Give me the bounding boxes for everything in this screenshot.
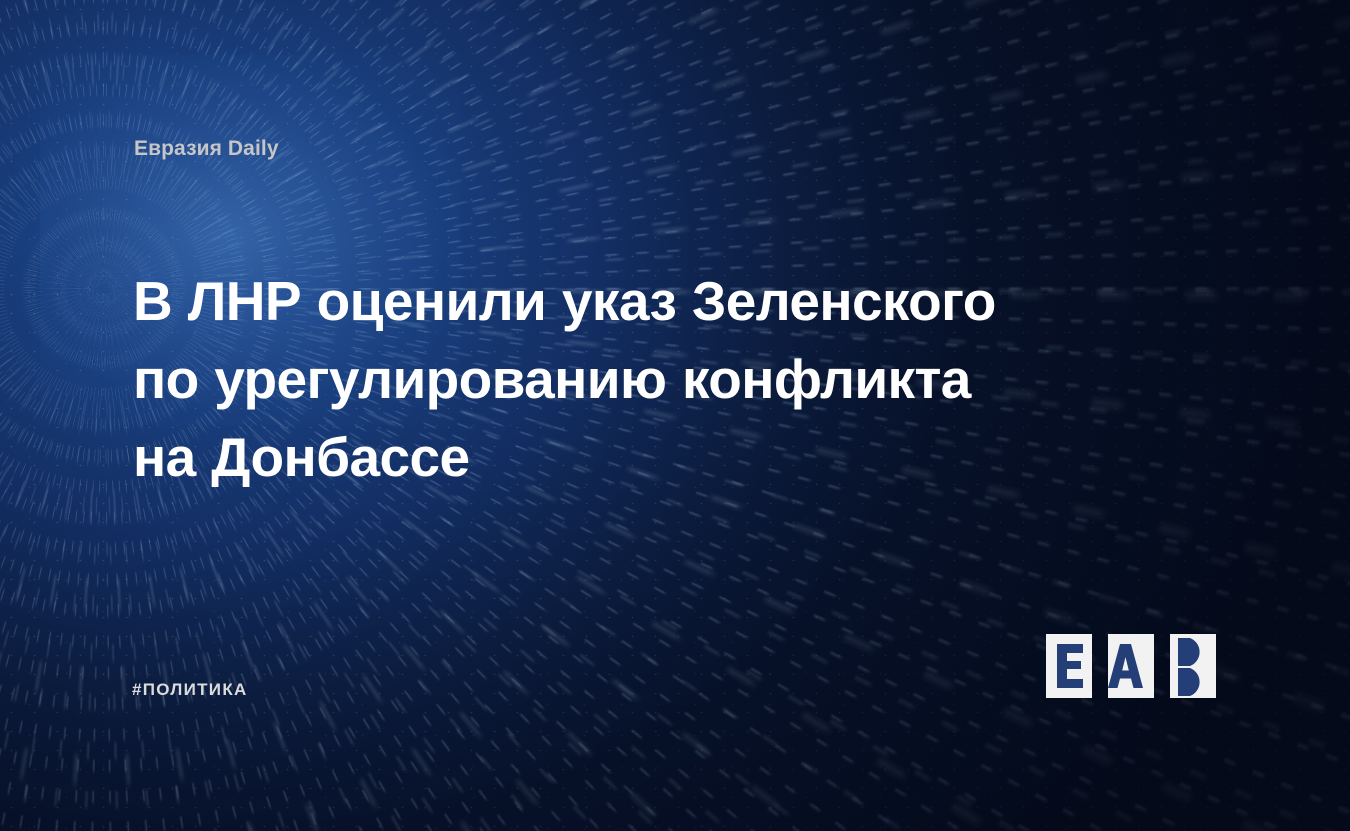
brand-name: Евразия Daily bbox=[134, 137, 279, 161]
category-tag[interactable]: #ПОЛИТИКА bbox=[132, 680, 248, 700]
card-content: Евразия Daily В ЛНР оценили указ Зеленск… bbox=[0, 0, 1350, 831]
page-title: В ЛНР оценили указ Зеленского по урегули… bbox=[133, 262, 1033, 496]
logo-letterforms-icon bbox=[1046, 634, 1216, 698]
logo-letter-e-icon bbox=[1057, 644, 1083, 688]
headline-line-2: по урегулированию конфликта bbox=[133, 340, 1033, 418]
headline-line-1: В ЛНР оценили указ Зеленского bbox=[133, 262, 1033, 340]
logo-letter-d-lower-icon bbox=[1178, 668, 1200, 696]
logo-letter-d-upper-icon bbox=[1178, 638, 1200, 666]
logo-letter-a-icon bbox=[1108, 644, 1143, 688]
eadaily-logo[interactable] bbox=[1046, 634, 1216, 698]
news-card: Евразия Daily В ЛНР оценили указ Зеленск… bbox=[0, 0, 1350, 831]
headline-line-3: на Донбассе bbox=[133, 418, 1033, 496]
